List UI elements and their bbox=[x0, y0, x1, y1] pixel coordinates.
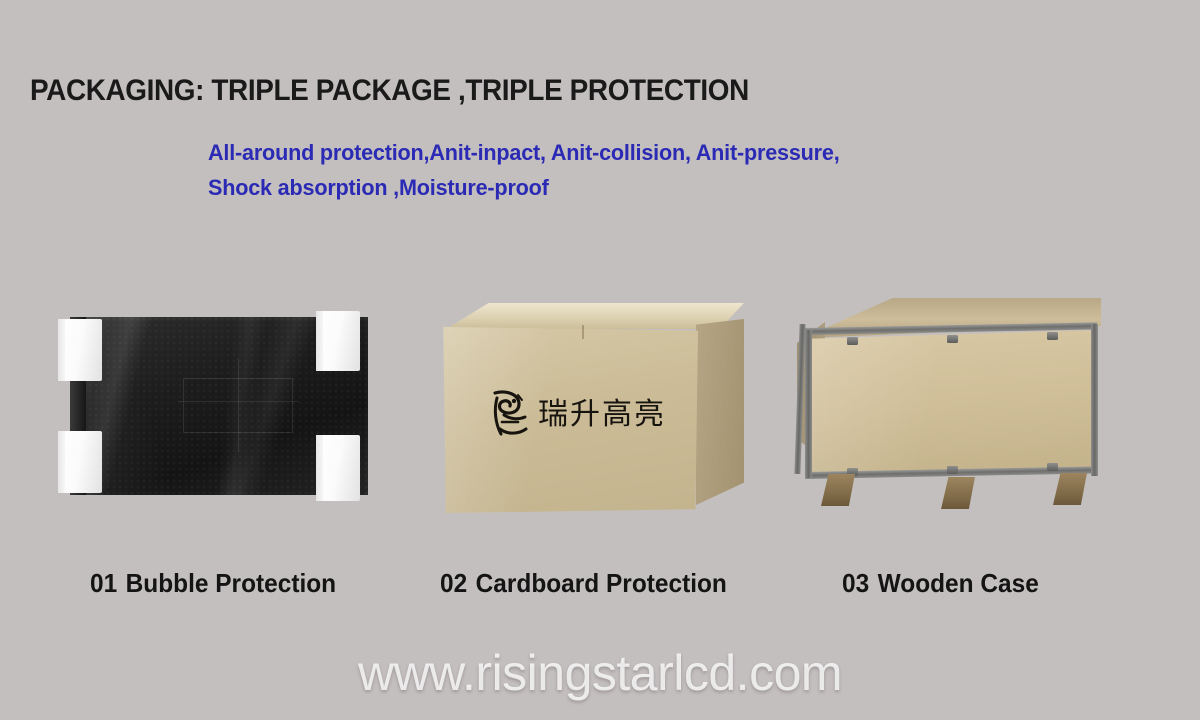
caption-label: Cardboard Protection bbox=[476, 568, 727, 598]
subtitle-line-1: All-around protection,Anit-inpact, Anit-… bbox=[208, 136, 1072, 171]
caption-cardboard-protection: 02Cardboard Protection bbox=[440, 568, 727, 599]
crate-frame-right bbox=[1091, 324, 1098, 476]
carton-tape-seam bbox=[582, 325, 584, 339]
caption-label: Wooden Case bbox=[878, 568, 1039, 598]
crate-frame-left bbox=[805, 330, 812, 478]
caption-label: Bubble Protection bbox=[126, 568, 336, 598]
caption-number: 03 bbox=[842, 568, 869, 598]
foam-corner-bottom-left bbox=[58, 431, 102, 493]
site-watermark: www.risingstarlcd.com bbox=[0, 644, 1200, 702]
caption-number: 01 bbox=[90, 568, 117, 598]
caption-number: 02 bbox=[440, 568, 467, 598]
packaging-infographic: PACKAGING: TRIPLE PACKAGE ,TRIPLE PROTEC… bbox=[0, 0, 1200, 720]
product-image-row: 瑞升高亮 bbox=[0, 285, 1200, 525]
crate-rivet bbox=[1047, 463, 1058, 471]
caption-bubble-protection: 01Bubble Protection bbox=[90, 568, 336, 599]
carton-side-face bbox=[696, 319, 744, 505]
brand-logo: 瑞升高亮 bbox=[488, 389, 666, 441]
cardboard-protection-image: 瑞升高亮 bbox=[432, 303, 752, 513]
foam-corner-bottom-right bbox=[316, 435, 360, 501]
crate-rivet bbox=[1047, 332, 1058, 340]
caption-wooden-case: 03Wooden Case bbox=[842, 568, 1039, 599]
panel-mount-bracket bbox=[183, 378, 292, 433]
foam-corner-top-left bbox=[58, 319, 102, 381]
brand-mark-icon bbox=[488, 389, 530, 441]
crate-rivet bbox=[847, 337, 858, 345]
bubble-protection-image bbox=[48, 303, 393, 508]
caption-row: 01Bubble Protection 02Cardboard Protecti… bbox=[0, 568, 1200, 612]
crate-front-panel bbox=[805, 330, 1095, 478]
crate-rivet bbox=[947, 335, 958, 343]
subtitle-line-2: Shock absorption ,Moisture-proof bbox=[208, 171, 1072, 206]
wooden-case-image bbox=[795, 298, 1110, 513]
crate-rivet bbox=[947, 466, 958, 474]
page-title: PACKAGING: TRIPLE PACKAGE ,TRIPLE PROTEC… bbox=[30, 74, 749, 108]
pallet-foot bbox=[1053, 473, 1087, 505]
pallet-foot bbox=[821, 474, 855, 506]
pallet-foot bbox=[941, 477, 975, 509]
subtitle-block: All-around protection,Anit-inpact, Anit-… bbox=[208, 136, 1072, 206]
brand-name-hanzi: 瑞升高亮 bbox=[538, 400, 666, 430]
foam-corner-top-right bbox=[316, 311, 360, 371]
